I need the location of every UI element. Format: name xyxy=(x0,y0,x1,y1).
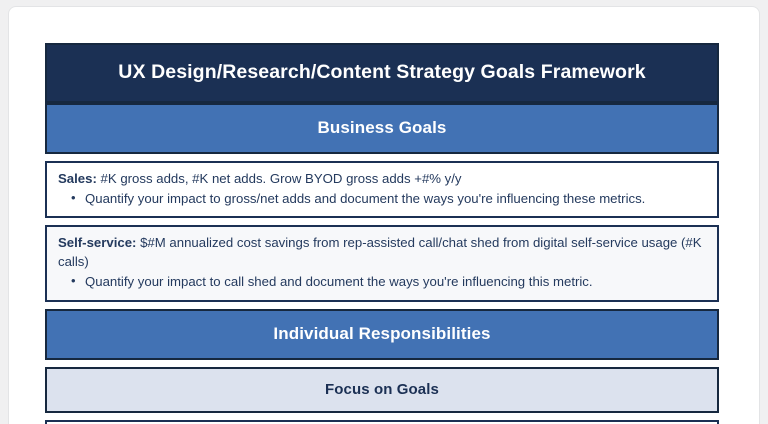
row-spacer xyxy=(45,413,719,420)
title-row: UX Design/Research/Content Strategy Goal… xyxy=(45,43,719,103)
goal-cell-sales: Sales: #K gross adds, #K net adds. Grow … xyxy=(45,161,719,218)
table-row: Self-service: $#M annualized cost saving… xyxy=(45,225,719,301)
row-spacer xyxy=(45,302,719,309)
section-heading-row-business: Business Goals xyxy=(45,103,719,154)
row-spacer xyxy=(45,154,719,161)
document-page: UX Design/Research/Content Strategy Goal… xyxy=(8,6,760,424)
responsibility-cell-focus-on-goals: Partner with your scrum team to ensure y… xyxy=(45,420,719,424)
section-heading-business-goals: Business Goals xyxy=(45,103,719,154)
goal-label-self-service: Self-service: xyxy=(58,235,136,250)
goal-bullet-list-self-service: Quantify your impact to call shed and do… xyxy=(58,273,705,292)
goals-framework-table: UX Design/Research/Content Strategy Goal… xyxy=(45,43,719,424)
table-row: Partner with your scrum team to ensure y… xyxy=(45,420,719,424)
list-item: Quantify your impact to gross/net adds a… xyxy=(85,190,705,209)
goal-lead-text-sales: #K gross adds, #K net adds. Grow BYOD gr… xyxy=(97,171,462,186)
row-spacer xyxy=(45,360,719,367)
goal-label-sales: Sales: xyxy=(58,171,97,186)
goal-lead-self-service: Self-service: $#M annualized cost saving… xyxy=(58,234,705,271)
goal-cell-self-service: Self-service: $#M annualized cost saving… xyxy=(45,225,719,301)
goal-lead-sales: Sales: #K gross adds, #K net adds. Grow … xyxy=(58,170,705,189)
section-heading-row-individual: Individual Responsibilities xyxy=(45,309,719,360)
goal-bullet-list-sales: Quantify your impact to gross/net adds a… xyxy=(58,190,705,209)
subheading-row-focus-on-goals: Focus on Goals xyxy=(45,367,719,413)
row-spacer xyxy=(45,218,719,225)
list-item: Quantify your impact to call shed and do… xyxy=(85,273,705,292)
goal-lead-text-self-service: $#M annualized cost savings from rep-ass… xyxy=(58,235,702,269)
subheading-focus-on-goals: Focus on Goals xyxy=(45,367,719,413)
section-heading-individual-responsibilities: Individual Responsibilities xyxy=(45,309,719,360)
table-row: Sales: #K gross adds, #K net adds. Grow … xyxy=(45,161,719,218)
framework-title-band: UX Design/Research/Content Strategy Goal… xyxy=(45,43,719,103)
